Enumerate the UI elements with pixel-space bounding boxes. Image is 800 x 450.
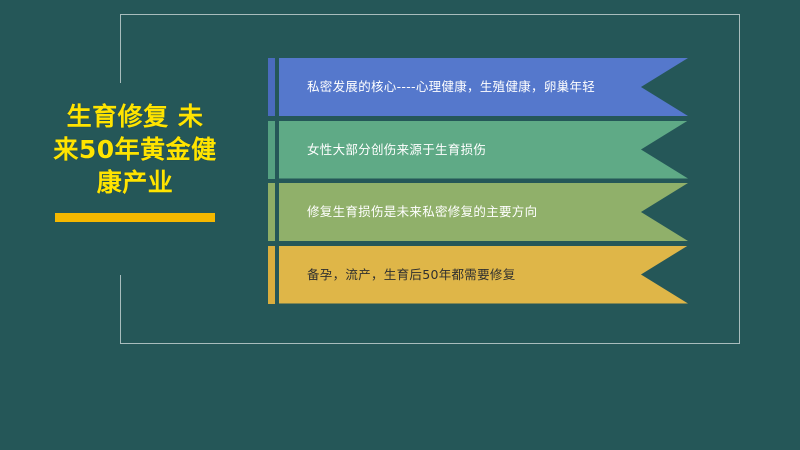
ribbon-label: 修复生育损伤是未来私密修复的主要方向 xyxy=(279,204,597,220)
ribbon-item[interactable]: 备孕，流产，生育后50年都需要修复 xyxy=(268,246,688,304)
frame-line-right xyxy=(739,14,740,344)
ribbon-item[interactable]: 私密发展的核心----心理健康，生殖健康，卵巢年轻 xyxy=(268,58,688,116)
title-block: 生育修复 未 来50年黄金健 康产业 xyxy=(30,100,240,222)
ribbon-list: 私密发展的核心----心理健康，生殖健康，卵巢年轻 女性大部分创伤来源于生育损伤… xyxy=(268,58,688,308)
ribbon-body: 女性大部分创伤来源于生育损伤 xyxy=(279,121,688,179)
frame-line-left-upper xyxy=(120,14,121,83)
ribbon-accent-gap xyxy=(275,246,279,304)
frame-line-top xyxy=(120,14,739,15)
title-underline-rule xyxy=(55,213,215,222)
page-title-line-3: 康产业 xyxy=(30,166,240,199)
ribbon-label: 私密发展的核心----心理健康，生殖健康，卵巢年轻 xyxy=(279,79,655,95)
ribbon-body: 备孕，流产，生育后50年都需要修复 xyxy=(279,246,688,304)
ribbon-item[interactable]: 修复生育损伤是未来私密修复的主要方向 xyxy=(268,183,688,241)
frame-line-left-lower xyxy=(120,275,121,344)
page-title: 生育修复 未 来50年黄金健 康产业 xyxy=(30,100,240,199)
ribbon-accent-bar xyxy=(268,121,275,179)
ribbon-accent-bar xyxy=(268,246,275,304)
page-title-line-2: 来50年黄金健 xyxy=(30,133,240,166)
ribbon-accent-bar xyxy=(268,58,275,116)
ribbon-accent-gap xyxy=(275,121,279,179)
ribbon-accent-gap xyxy=(275,183,279,241)
ribbon-accent-bar xyxy=(268,183,275,241)
ribbon-item[interactable]: 女性大部分创伤来源于生育损伤 xyxy=(268,121,688,179)
slide-canvas: 生育修复 未 来50年黄金健 康产业 私密发展的核心----心理健康，生殖健康，… xyxy=(0,0,800,450)
ribbon-body: 修复生育损伤是未来私密修复的主要方向 xyxy=(279,183,688,241)
ribbon-body: 私密发展的核心----心理健康，生殖健康，卵巢年轻 xyxy=(279,58,688,116)
ribbon-label: 女性大部分创伤来源于生育损伤 xyxy=(279,142,546,158)
ribbon-label: 备孕，流产，生育后50年都需要修复 xyxy=(279,267,576,283)
ribbon-accent-gap xyxy=(275,58,279,116)
frame-line-bottom xyxy=(120,343,740,344)
page-title-line-1: 生育修复 未 xyxy=(30,100,240,133)
